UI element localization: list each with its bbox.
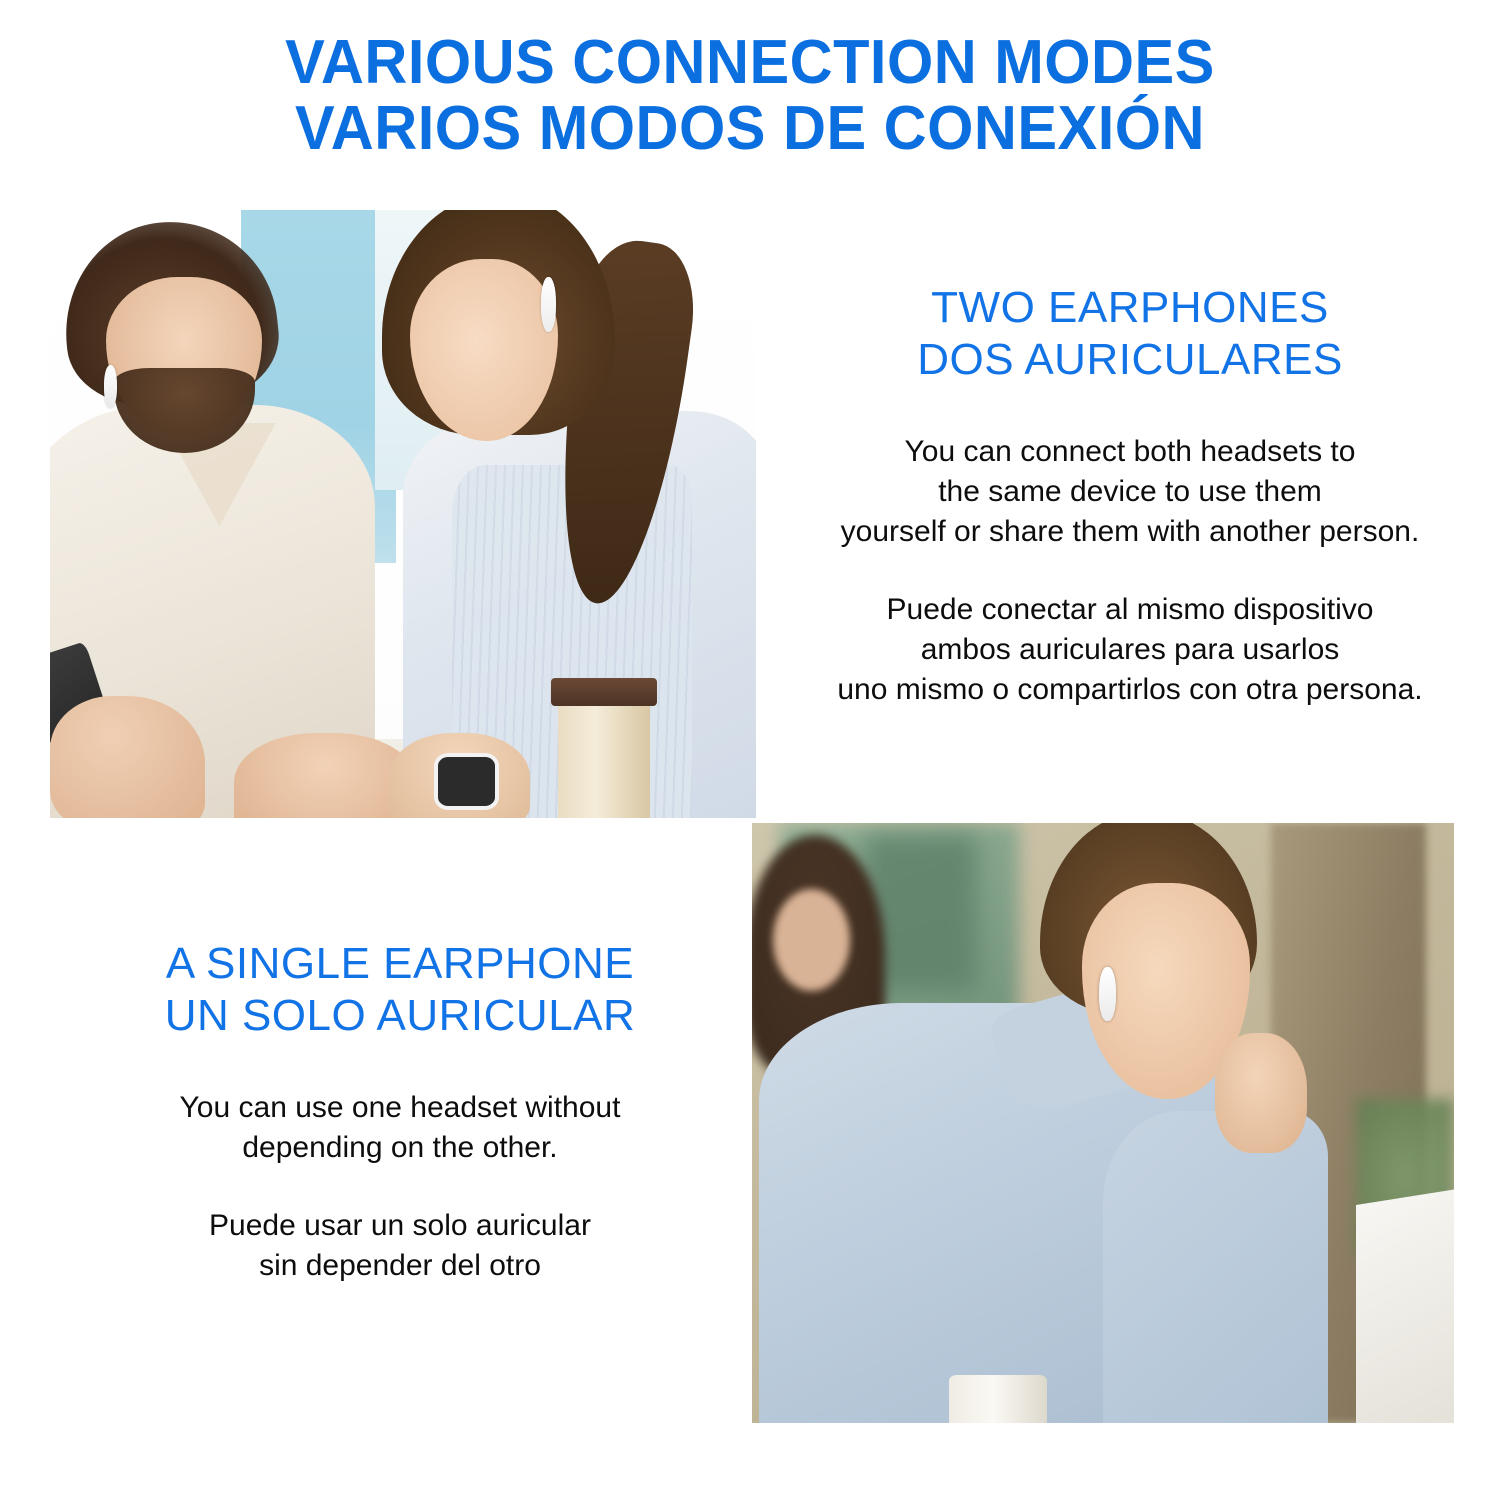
body-line: You can connect both headsets to [770,432,1490,472]
earbud-icon-left [104,365,117,408]
heading-two-earphones-spanish: DOS AURICULARES [770,334,1490,386]
body-line: Puede conectar al mismo dispositivo [770,590,1490,630]
body-line: uno mismo o compartirlos con otra person… [770,670,1490,710]
body-single-earphone-english: You can use one headset without dependin… [40,1088,760,1168]
photo-two-earphones [50,210,756,818]
background-woman-face [773,889,850,991]
heading-two-earphones-english: TWO EARPHONES [770,282,1490,334]
page-title: VARIOUS CONNECTION MODES VARIOS MODOS DE… [0,30,1500,162]
body-line: ambos auriculares para usarlos [770,630,1490,670]
body-line: the same device to use them [770,472,1490,512]
body-line: Puede usar un solo auricular [40,1206,760,1246]
spacer [40,1168,760,1206]
laptop [1356,1185,1454,1423]
body-line: You can use one headset without [40,1088,760,1128]
smartwatch [438,757,494,806]
page-title-english: VARIOUS CONNECTION MODES [30,30,1470,96]
body-line: yourself or share them with another pers… [770,512,1490,552]
spacer [40,1042,760,1088]
body-two-earphones-english: You can connect both headsets to the sam… [770,432,1490,552]
man-arm [1103,1111,1328,1423]
body-single-earphone-spanish: Puede usar un solo auricular sin depende… [40,1206,760,1286]
body-line: depending on the other. [40,1128,760,1168]
body-two-earphones-spanish: Puede conectar al mismo dispositivo ambo… [770,590,1490,710]
coffee-mug [949,1375,1047,1423]
heading-single-earphone-spanish: UN SOLO AURICULAR [40,990,760,1042]
heading-single-earphone-english: A SINGLE EARPHONE [40,938,760,990]
spacer [770,552,1490,590]
photo-single-earphone [752,823,1454,1423]
body-line: sin depender del otro [40,1246,760,1286]
earbud-icon-right [541,277,557,332]
earbud-icon-single [1099,967,1116,1021]
product-feature-infographic: VARIOUS CONNECTION MODES VARIOS MODOS DE… [0,0,1500,1500]
man-hand-holding-phone [50,696,205,818]
section-single-earphone-text: A SINGLE EARPHONE UN SOLO AURICULAR You … [40,938,760,1286]
section-two-earphones-text: TWO EARPHONES DOS AURICULARES You can co… [770,282,1490,710]
man-hand [1215,1033,1306,1153]
coffee-cup-lid [551,678,657,705]
page-title-spanish: VARIOS MODOS DE CONEXIÓN [30,96,1470,162]
spacer [770,386,1490,432]
